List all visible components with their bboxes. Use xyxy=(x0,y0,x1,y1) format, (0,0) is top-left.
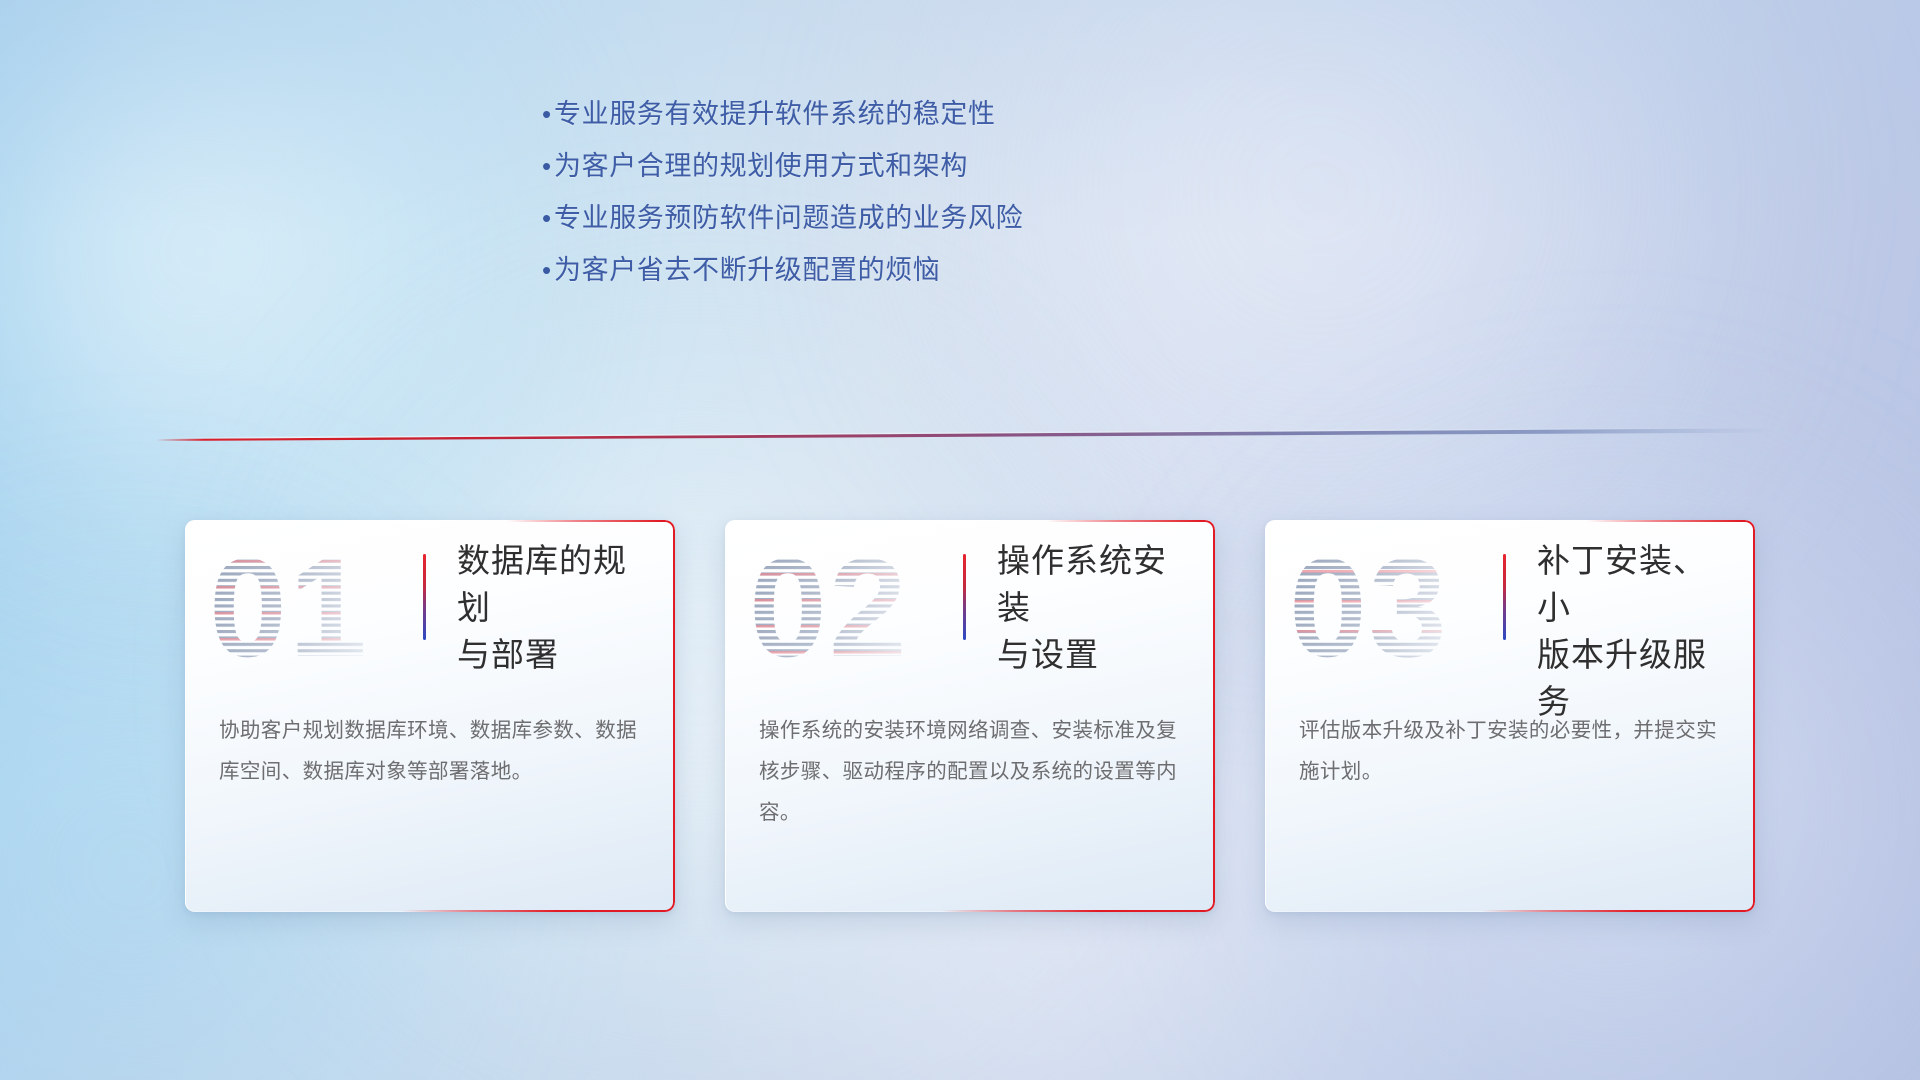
card-description: 评估版本升级及补丁安装的必要性，并提交实施计划。 xyxy=(1299,710,1727,792)
card-header: 01 数据库的规划 与部署 xyxy=(185,520,675,696)
card-title-line: 操作系统安装 xyxy=(997,538,1197,632)
card-title-line: 与设置 xyxy=(997,632,1197,679)
bullet-item-label: 专业服务有效提升软件系统的稳定性 xyxy=(554,88,996,140)
card-title-line: 数据库的规划 xyxy=(457,538,657,632)
bullet-point-icon: • xyxy=(520,88,554,140)
bullet-point-icon: • xyxy=(520,140,554,192)
service-card-03[interactable]: 03 补丁安装、小 版本升级服务 评估版本升级及补丁安装的必要性，并提交 xyxy=(1265,520,1755,912)
service-card-01[interactable]: 01 数据库的规划 与部署 协助客户规划数据库环境、数据库参数、数据库空 xyxy=(185,520,675,912)
card-header: 03 补丁安装、小 版本升级服务 xyxy=(1265,520,1755,696)
bullet-item-label: 为客户省去不断升级配置的烦恼 xyxy=(554,244,940,296)
bullet-point-icon: • xyxy=(520,192,554,244)
card-title-divider xyxy=(423,554,426,640)
card-description: 协助客户规划数据库环境、数据库参数、数据库空间、数据库对象等部署落地。 xyxy=(219,710,647,792)
bullet-list: • 专业服务有效提升软件系统的稳定性 • 为客户合理的规划使用方式和架构 • 专… xyxy=(520,88,1280,296)
card-title: 操作系统安装 与设置 xyxy=(997,538,1197,679)
card-description: 操作系统的安装环境网络调查、安装标准及复核步骤、驱动程序的配置以及系统的设置等内… xyxy=(759,710,1187,833)
card-title-line: 与部署 xyxy=(457,632,657,679)
bullet-item-label: 为客户合理的规划使用方式和架构 xyxy=(554,140,968,192)
card-title-line: 补丁安装、小 xyxy=(1537,538,1737,632)
card-row: 01 数据库的规划 与部署 协助客户规划数据库环境、数据库参数、数据库空 xyxy=(185,520,1755,920)
section-divider xyxy=(150,424,1775,442)
card-title: 补丁安装、小 版本升级服务 xyxy=(1537,538,1737,725)
service-card-02[interactable]: 02 操作系统安装 与设置 操作系统的安装环境网络调查、安装标准及复核步 xyxy=(725,520,1215,912)
card-title-divider xyxy=(963,554,966,640)
list-item: • 为客户省去不断升级配置的烦恼 xyxy=(520,244,1280,296)
card-title: 数据库的规划 与部署 xyxy=(457,538,657,679)
card-title-divider xyxy=(1503,554,1506,640)
bullet-point-icon: • xyxy=(520,244,554,296)
card-number-watermark: 02 xyxy=(747,534,937,684)
list-item: • 为客户合理的规划使用方式和架构 xyxy=(520,140,1280,192)
card-header: 02 操作系统安装 与设置 xyxy=(725,520,1215,696)
bullet-item-label: 专业服务预防软件问题造成的业务风险 xyxy=(554,192,1023,244)
card-number-watermark: 03 xyxy=(1287,534,1477,684)
list-item: • 专业服务有效提升软件系统的稳定性 xyxy=(520,88,1280,140)
list-item: • 专业服务预防软件问题造成的业务风险 xyxy=(520,192,1280,244)
card-number-watermark: 01 xyxy=(207,534,397,684)
